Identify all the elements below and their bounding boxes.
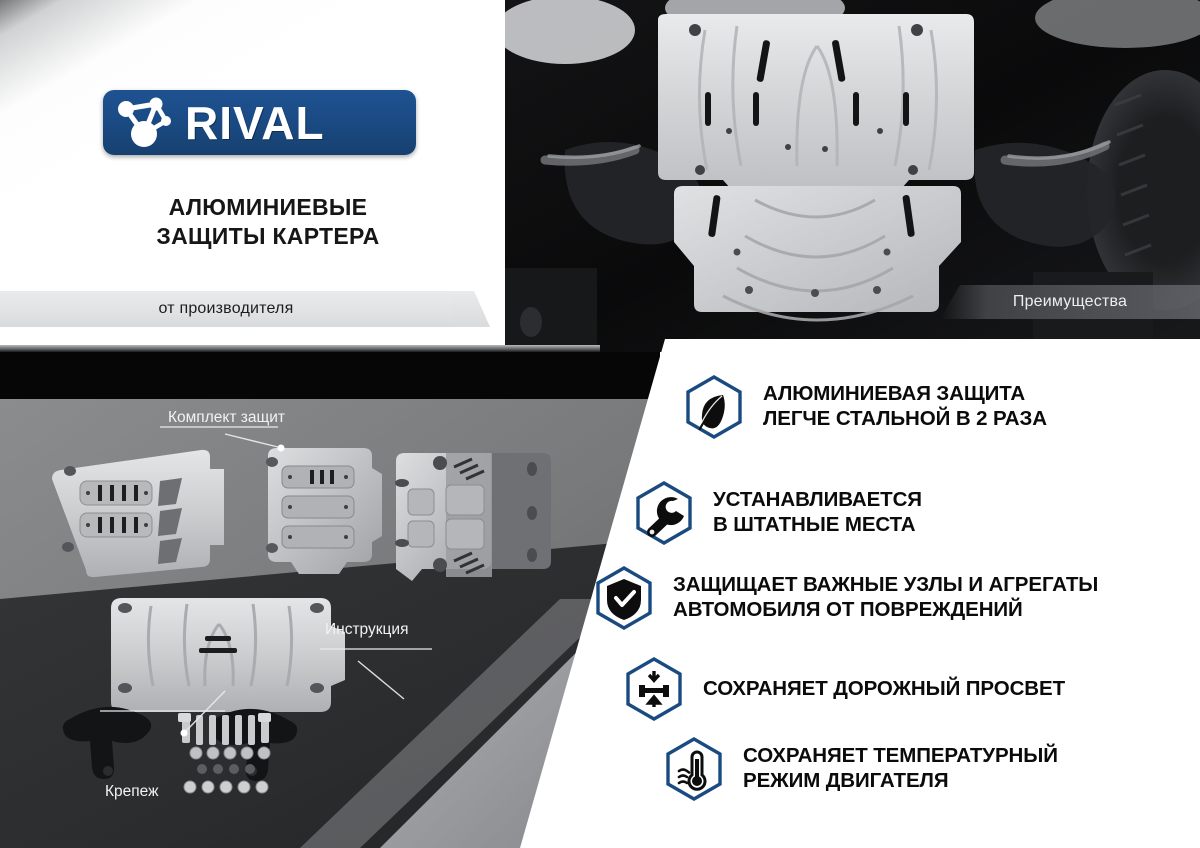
- advantages-tag-label: Преимущества: [1013, 293, 1127, 311]
- band-highlight: [0, 345, 600, 352]
- brand-name: RIVAL: [185, 96, 325, 150]
- benefit-text: СОХРАНЯЕТ ДОРОЖНЫЙ ПРОСВЕТ: [703, 677, 1065, 702]
- callout-fasteners: Крепеж: [105, 783, 158, 801]
- page-title: АЛЮМИНИЕВЫЕ ЗАЩИТЫ КАРТЕРА: [103, 193, 433, 252]
- thermometer-icon: [665, 737, 723, 801]
- shield-check-icon: [595, 566, 653, 630]
- benefit-text: ЗАЩИЩАЕТ ВАЖНЫЕ УЗЛЫ И АГРЕГАТЫ АВТОМОБИ…: [673, 573, 1098, 622]
- subtitle-strip: от производителя: [0, 291, 452, 327]
- benefit-text: АЛЮМИНИЕВАЯ ЗАЩИТА ЛЕГЧЕ СТАЛЬНОЙ В 2 РА…: [763, 382, 1047, 431]
- benefit-item-temperature: СОХРАНЯЕТ ТЕМПЕРАТУРНЫЙ РЕЖИМ ДВИГАТЕЛЯ: [665, 737, 1058, 801]
- callout-plates-set: Комплект защит: [168, 409, 285, 427]
- benefit-item-weight: АЛЮМИНИЕВАЯ ЗАЩИТА ЛЕГЧЕ СТАЛЬНОЙ В 2 РА…: [685, 375, 1047, 439]
- subtitle-text: от производителя: [159, 300, 294, 318]
- benefit-item-clearance: СОХРАНЯЕТ ДОРОЖНЫЙ ПРОСВЕТ: [625, 657, 1065, 721]
- promo-banner: RIVAL АЛЮМИНИЕВЫЕ ЗАЩИТЫ КАРТЕРА от прои…: [0, 0, 1200, 848]
- benefit-text: СОХРАНЯЕТ ТЕМПЕРАТУРНЫЙ РЕЖИМ ДВИГАТЕЛЯ: [743, 744, 1058, 793]
- separator-band: [0, 352, 660, 399]
- advantages-tag: Преимущества: [940, 285, 1200, 319]
- brand-logo: RIVAL: [103, 90, 416, 155]
- ground-clearance-icon: [625, 657, 683, 721]
- molecule-icon: [113, 95, 183, 151]
- leaf-icon: [685, 375, 743, 439]
- underbody-photo: Преимущества: [505, 0, 1200, 352]
- callout-instruction: Инструкция: [325, 621, 408, 639]
- wrench-icon: [635, 481, 693, 545]
- benefit-item-protection: ЗАЩИЩАЕТ ВАЖНЫЕ УЗЛЫ И АГРЕГАТЫ АВТОМОБИ…: [595, 566, 1098, 630]
- benefit-text: УСТАНАВЛИВАЕТСЯ В ШТАТНЫЕ МЕСТА: [713, 488, 922, 537]
- benefit-item-fitment: УСТАНАВЛИВАЕТСЯ В ШТАТНЫЕ МЕСТА: [635, 481, 922, 545]
